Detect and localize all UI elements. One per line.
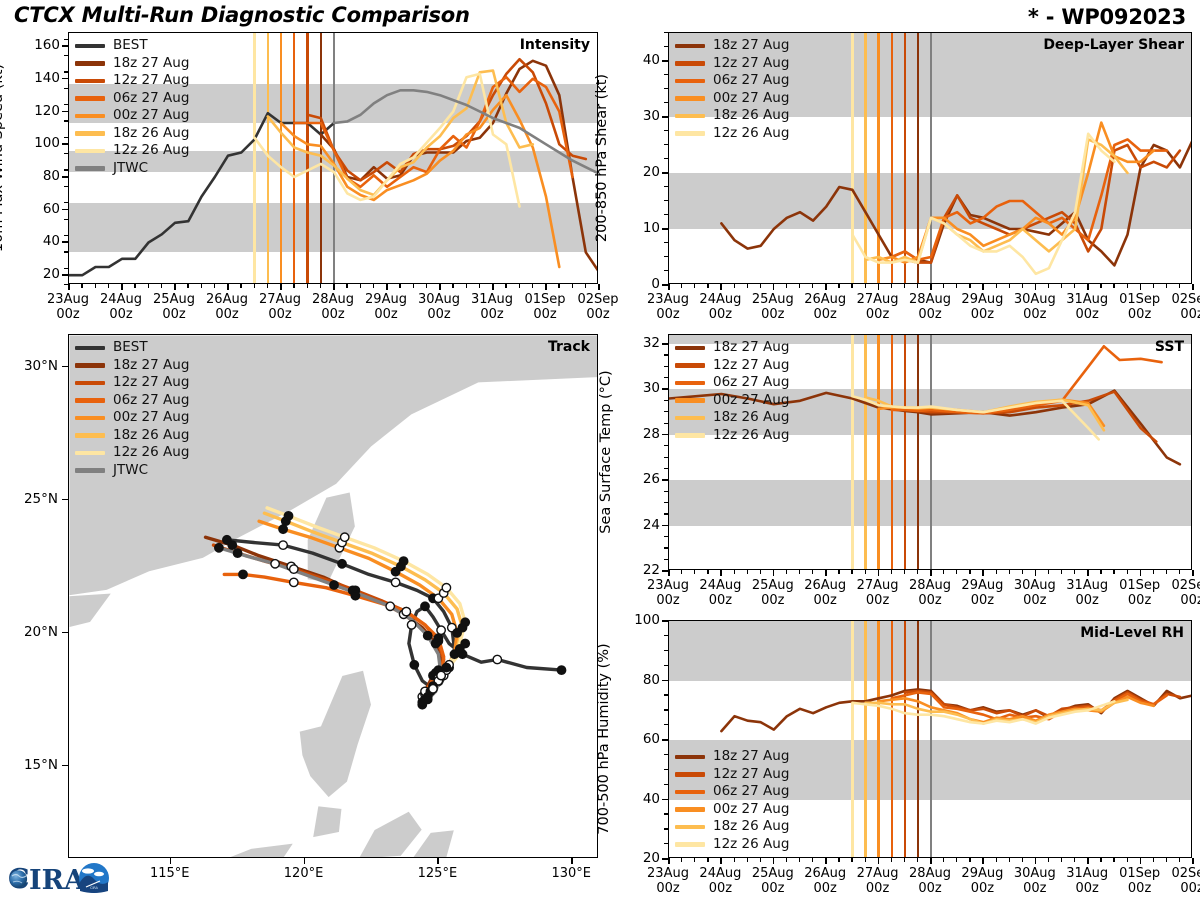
track-marker [351, 592, 359, 600]
track-marker [442, 584, 450, 592]
legend-swatch-icon [675, 398, 705, 403]
x-minor-tick [479, 284, 480, 288]
series-line-00z-27-aug [879, 123, 1154, 263]
legend-item-12z-26-aug: 12z 26 Aug [75, 444, 189, 462]
y-minor-tick [64, 235, 68, 236]
track-marker [239, 570, 247, 578]
legend-swatch-icon [75, 363, 105, 368]
storm-id-label: * - WP092023 [1028, 5, 1186, 29]
x-minor-tick [694, 570, 695, 574]
x-minor-tick [373, 284, 374, 288]
legend-label: 18z 26 Aug [113, 127, 189, 141]
x-minor-tick [1022, 284, 1023, 288]
legend-item-best: BEST [75, 339, 189, 357]
x-tick [878, 284, 880, 290]
legend-swatch-icon [675, 433, 705, 438]
x-minor-tick [1166, 570, 1167, 574]
legend-label: 00z 27 Aug [713, 394, 789, 408]
y-tick-label: 32 [612, 335, 660, 351]
x-minor-tick [532, 284, 533, 288]
x-minor-tick [161, 284, 162, 288]
x-minor-tick [838, 284, 839, 288]
x-minor-tick [1166, 284, 1167, 288]
legend-swatch-icon [675, 807, 705, 812]
x-minor-tick [851, 284, 852, 288]
y-tick [662, 525, 668, 527]
legend-swatch-icon [675, 790, 705, 795]
y-minor-tick [664, 200, 668, 201]
track-marker [399, 557, 407, 565]
track-marker [386, 602, 394, 610]
x-minor-tick [1113, 284, 1114, 288]
y-tick [62, 632, 68, 634]
x-minor-tick [786, 284, 787, 288]
x-minor-tick [320, 284, 321, 288]
x-minor-tick [214, 284, 215, 288]
legend-item-best: BEST [75, 37, 189, 55]
x-minor-tick [108, 284, 109, 288]
x-minor-tick [956, 284, 957, 288]
y-tick-label: 40 [12, 233, 60, 249]
legend-label: 06z 27 Aug [113, 394, 189, 408]
x-minor-tick [1009, 570, 1010, 574]
y-tick-label: 28 [612, 426, 660, 442]
x-minor-tick [786, 570, 787, 574]
x-tick [668, 858, 670, 864]
legend-label: 12z 26 Aug [713, 838, 789, 852]
y-minor-tick [64, 137, 68, 138]
x-tick [386, 284, 388, 290]
x-minor-tick [996, 284, 997, 288]
track-marker [421, 602, 429, 610]
y-tick [662, 60, 668, 62]
x-minor-tick [558, 284, 559, 288]
x-tick [1140, 570, 1142, 576]
y-tick [662, 343, 668, 345]
x-minor-tick [891, 570, 892, 574]
x-minor-tick [1153, 284, 1154, 288]
y-minor-tick [64, 219, 68, 220]
x-minor-tick [95, 284, 96, 288]
x-minor-tick [1153, 570, 1154, 574]
track-marker [284, 512, 292, 520]
legend-swatch-icon [675, 61, 705, 66]
legend-item-18z-27-aug: 18z 27 Aug [675, 748, 789, 766]
y-minor-tick [664, 665, 668, 666]
y-tick [662, 799, 668, 801]
y-tick [662, 116, 668, 118]
x-minor-tick [851, 570, 852, 574]
x-tick [545, 284, 547, 290]
x-tick [68, 284, 70, 290]
track-marker [330, 581, 338, 589]
x-minor-tick [865, 858, 866, 862]
y-minor-tick [664, 457, 668, 458]
legend-shear: 18z 27 Aug12z 27 Aug06z 27 Aug00z 27 Aug… [675, 37, 789, 142]
panel-intensity[interactable]: Intensity BEST18z 27 Aug12z 27 Aug06z 27… [68, 32, 598, 284]
y-minor-tick [664, 784, 668, 785]
x-tick [598, 284, 600, 290]
legend-swatch-icon [675, 416, 705, 421]
y-tick [62, 45, 68, 47]
legend-label: 18z 27 Aug [113, 359, 189, 373]
y-minor-tick [664, 400, 668, 401]
x-tick [227, 284, 229, 290]
legend-label: 12z 27 Aug [113, 376, 189, 390]
y-axis-label: 700-500 hPa Humidity (%) [596, 643, 612, 834]
x-minor-tick [891, 858, 892, 862]
y-axis-label: 200-850 hPa Shear (kt) [594, 74, 610, 242]
x-tick [825, 858, 827, 864]
x-tick [930, 858, 932, 864]
legend-swatch-icon [675, 114, 705, 119]
x-minor-tick [786, 858, 787, 862]
x-minor-tick [812, 570, 813, 574]
page-title: CTCX Multi-Run Diagnostic Comparison [14, 3, 470, 27]
x-minor-tick [1179, 858, 1180, 862]
x-minor-tick [996, 858, 997, 862]
legend-item-12z-27-aug: 12z 27 Aug [75, 72, 189, 90]
x-tick [174, 284, 176, 290]
y-tick [62, 176, 68, 178]
y-axis-label: Sea Surface Temp (°C) [598, 370, 614, 533]
y-tick-label: 160 [12, 37, 60, 53]
x-minor-tick [307, 284, 308, 288]
track-marker [410, 661, 418, 669]
x-minor-tick [360, 284, 361, 288]
legend-intensity: BEST18z 27 Aug12z 27 Aug06z 27 Aug00z 27… [75, 37, 189, 177]
legend-label: 18z 27 Aug [713, 39, 789, 53]
x-tick [878, 570, 880, 576]
y-tick [662, 434, 668, 436]
legend-item-jtwc: JTWC [75, 160, 189, 178]
track-marker [557, 666, 565, 674]
y-minor-tick [664, 502, 668, 503]
y-minor-tick [664, 709, 668, 710]
x-minor-tick [1022, 570, 1023, 574]
panel-track[interactable]: Track BEST18z 27 Aug12z 27 Aug06z 27 Aug… [68, 334, 598, 858]
landmass-luzon [299, 670, 371, 798]
legend-label: 18z 26 Aug [113, 429, 189, 443]
series-line-18z-26-aug [866, 139, 1128, 262]
panel-title-sst: SST [1155, 339, 1184, 355]
legend-item-06z-27-aug: 06z 27 Aug [75, 392, 189, 410]
x-minor-tick [1048, 570, 1049, 574]
x-minor-tick [904, 570, 905, 574]
y-minor-tick [664, 491, 668, 492]
x-minor-tick [917, 570, 918, 574]
x-minor-tick [969, 284, 970, 288]
y-tick [662, 620, 668, 622]
x-tick-hour: 00z [1160, 307, 1200, 322]
y-tick-label: 30°N [6, 358, 58, 374]
x-minor-tick [760, 284, 761, 288]
x-minor-tick [1113, 858, 1114, 862]
svg-text:CIRA: CIRA [90, 886, 98, 890]
x-tick [304, 858, 306, 864]
x-minor-tick [187, 284, 188, 288]
series-line-12z-26-aug [852, 396, 1098, 439]
legend-item-18z-26-aug: 18z 26 Aug [675, 818, 789, 836]
y-minor-tick [64, 71, 68, 72]
y-minor-tick [664, 635, 668, 636]
legend-swatch-icon [75, 96, 105, 101]
y-minor-tick [64, 104, 68, 105]
y-tick-label: 140 [12, 70, 60, 86]
legend-item-18z-26-aug: 18z 26 Aug [75, 427, 189, 445]
x-minor-tick [707, 570, 708, 574]
legend-swatch-icon [75, 433, 105, 438]
y-minor-tick [664, 102, 668, 103]
track-marker [442, 663, 450, 671]
y-minor-tick [664, 242, 668, 243]
x-tick [1140, 284, 1142, 290]
y-tick-label: 100 [12, 135, 60, 151]
legend-item-12z-26-aug: 12z 26 Aug [75, 142, 189, 160]
legend-swatch-icon [75, 44, 105, 49]
legend-swatch-icon [675, 96, 705, 101]
y-axis-label: 10m Max Wind Speed (kt) [0, 64, 6, 252]
legend-rh: 18z 27 Aug12z 27 Aug06z 27 Aug00z 27 Aug… [675, 748, 789, 853]
y-tick-label: 120 [12, 103, 60, 119]
track-marker [279, 525, 287, 533]
x-tick [1087, 570, 1089, 576]
x-minor-tick [1061, 858, 1062, 862]
x-minor-tick [812, 284, 813, 288]
legend-swatch-icon [75, 166, 105, 171]
legend-swatch-icon [75, 398, 105, 403]
x-tick [1087, 284, 1089, 290]
x-tick [982, 570, 984, 576]
track-marker [461, 618, 469, 626]
panel-title-track: Track [548, 339, 590, 355]
legend-swatch-icon [675, 842, 705, 847]
track-marker [437, 671, 445, 679]
legend-item-12z-27-aug: 12z 27 Aug [675, 766, 789, 784]
y-tick [62, 765, 68, 767]
legend-label: 00z 27 Aug [713, 803, 789, 817]
y-minor-tick [664, 144, 668, 145]
x-minor-tick [865, 284, 866, 288]
legend-label: 12z 26 Aug [713, 127, 789, 141]
track-marker [424, 631, 432, 639]
y-minor-tick [664, 650, 668, 651]
x-tick-label: 120°E [269, 866, 339, 881]
y-minor-tick [664, 724, 668, 725]
y-minor-tick [664, 88, 668, 89]
legend-item-06z-27-aug: 06z 27 Aug [675, 783, 789, 801]
x-tick-hour: 00z [1160, 593, 1200, 608]
x-tick-date: 02Sep [566, 292, 630, 307]
y-tick-label: 80 [612, 672, 660, 688]
y-tick-label: 10 [612, 220, 660, 236]
legend-swatch-icon [75, 381, 105, 386]
x-minor-tick [996, 570, 997, 574]
y-tick-label: 30 [612, 108, 660, 124]
x-minor-tick [452, 284, 453, 288]
y-minor-tick [64, 88, 68, 89]
x-tick [437, 858, 439, 864]
y-minor-tick [64, 251, 68, 252]
legend-item-12z-27-aug: 12z 27 Aug [675, 357, 789, 375]
x-tick-label: 125°E [402, 866, 472, 881]
x-tick-hour: 00z [1160, 881, 1200, 896]
legend-label: 06z 27 Aug [713, 74, 789, 88]
y-minor-tick [664, 694, 668, 695]
x-minor-tick [707, 858, 708, 862]
legend-swatch-icon [75, 131, 105, 136]
x-minor-tick [943, 284, 944, 288]
x-minor-tick [267, 284, 268, 288]
legend-label: 12z 27 Aug [113, 74, 189, 88]
x-tick-label: 02Sep00z [566, 292, 630, 322]
legend-item-18z-27-aug: 18z 27 Aug [75, 55, 189, 73]
panel-sst[interactable]: SST 18z 27 Aug12z 27 Aug06z 27 Aug00z 27… [668, 334, 1192, 570]
y-minor-tick [664, 366, 668, 367]
y-minor-tick [664, 270, 668, 271]
y-tick [62, 78, 68, 80]
legend-label: 00z 27 Aug [113, 411, 189, 425]
x-tick [668, 284, 670, 290]
landmass-mindoro [313, 806, 342, 838]
x-tick [439, 284, 441, 290]
x-tick [571, 858, 573, 864]
x-tick-date: 02Sep [1160, 292, 1200, 307]
legend-sst: 18z 27 Aug12z 27 Aug06z 27 Aug00z 27 Aug… [675, 339, 789, 444]
y-tick [662, 172, 668, 174]
y-minor-tick [664, 754, 668, 755]
series-line-jtwc [334, 90, 597, 173]
x-minor-tick [1179, 570, 1180, 574]
x-minor-tick [1127, 284, 1128, 288]
x-minor-tick [969, 858, 970, 862]
legend-item-06z-27-aug: 06z 27 Aug [675, 72, 789, 90]
x-minor-tick [81, 284, 82, 288]
track-marker [290, 565, 298, 573]
legend-swatch-icon [75, 114, 105, 119]
legend-label: 18z 26 Aug [713, 820, 789, 834]
series-line-18z-27-aug [321, 61, 597, 272]
track-marker [279, 541, 287, 549]
y-minor-tick [64, 55, 68, 56]
y-minor-tick [664, 513, 668, 514]
legend-swatch-icon [675, 363, 705, 368]
y-tick [62, 143, 68, 145]
track-marker [437, 626, 445, 634]
legend-item-jtwc: JTWC [75, 462, 189, 480]
track-marker [228, 541, 236, 549]
x-minor-tick [943, 570, 944, 574]
x-minor-tick [838, 858, 839, 862]
x-minor-tick [148, 284, 149, 288]
y-tick [62, 499, 68, 501]
x-minor-tick [681, 858, 682, 862]
legend-swatch-icon [75, 346, 105, 351]
panel-shear[interactable]: Deep-Layer Shear 18z 27 Aug12z 27 Aug06z… [668, 32, 1192, 284]
track-marker [434, 634, 442, 642]
y-tick [62, 366, 68, 368]
x-tick [982, 858, 984, 864]
legend-item-12z-26-aug: 12z 26 Aug [675, 427, 789, 445]
y-tick-label: 0 [612, 276, 660, 292]
legend-item-12z-26-aug: 12z 26 Aug [675, 836, 789, 854]
y-minor-tick [664, 536, 668, 537]
x-tick-label: 02Sep00z [1160, 866, 1200, 896]
x-minor-tick [1022, 858, 1023, 862]
y-tick [662, 739, 668, 741]
x-tick [1192, 858, 1194, 864]
legend-label: BEST [113, 39, 148, 53]
y-minor-tick [664, 843, 668, 844]
x-tick [773, 570, 775, 576]
x-minor-tick [1061, 284, 1062, 288]
legend-item-12z-27-aug: 12z 27 Aug [75, 374, 189, 392]
x-minor-tick [734, 284, 735, 288]
x-minor-tick [1127, 570, 1128, 574]
x-minor-tick [519, 284, 520, 288]
landmass-palawan [224, 843, 293, 857]
legend-label: 18z 27 Aug [713, 750, 789, 764]
y-tick-label: 60 [12, 201, 60, 217]
track-marker [338, 560, 346, 568]
y-minor-tick [64, 202, 68, 203]
y-minor-tick [64, 120, 68, 121]
track-marker [402, 607, 410, 615]
y-minor-tick [64, 186, 68, 187]
x-tick [492, 284, 494, 290]
x-tick [773, 284, 775, 290]
x-minor-tick [1009, 284, 1010, 288]
x-minor-tick [1127, 858, 1128, 862]
legend-swatch-icon [675, 346, 705, 351]
x-minor-tick [1061, 570, 1062, 574]
x-minor-tick [917, 858, 918, 862]
track-marker [341, 533, 349, 541]
x-tick-label: 115°E [135, 866, 205, 881]
x-tick [825, 284, 827, 290]
legend-swatch-icon [675, 79, 705, 84]
x-tick-label: 02Sep00z [1160, 578, 1200, 608]
x-tick-date: 02Sep [1160, 866, 1200, 881]
x-minor-tick [904, 284, 905, 288]
track-marker [407, 621, 415, 629]
legend-item-18z-27-aug: 18z 27 Aug [675, 37, 789, 55]
legend-track: BEST18z 27 Aug12z 27 Aug06z 27 Aug00z 27… [75, 339, 189, 479]
y-tick-label: 20°N [6, 624, 58, 640]
panel-rh[interactable]: Mid-Level RH 18z 27 Aug12z 27 Aug06z 27 … [668, 620, 1192, 858]
legend-swatch-icon [675, 381, 705, 386]
y-tick-label: 40 [612, 791, 660, 807]
x-minor-tick [426, 284, 427, 288]
x-minor-tick [799, 858, 800, 862]
y-tick [62, 274, 68, 276]
x-tick-label: 02Sep00z [1160, 292, 1200, 322]
y-minor-tick [664, 377, 668, 378]
legend-label: 12z 27 Aug [713, 359, 789, 373]
y-minor-tick [664, 130, 668, 131]
legend-item-18z-26-aug: 18z 26 Aug [675, 107, 789, 125]
x-minor-tick [760, 570, 761, 574]
legend-label: 18z 27 Aug [113, 57, 189, 71]
legend-label: 06z 27 Aug [113, 92, 189, 106]
track-marker [424, 695, 432, 703]
legend-swatch-icon [675, 825, 705, 830]
x-minor-tick [240, 284, 241, 288]
panel-title-rh: Mid-Level RH [1080, 625, 1184, 641]
legend-swatch-icon [75, 149, 105, 154]
x-tick-date: 02Sep [1160, 578, 1200, 593]
x-minor-tick [134, 284, 135, 288]
